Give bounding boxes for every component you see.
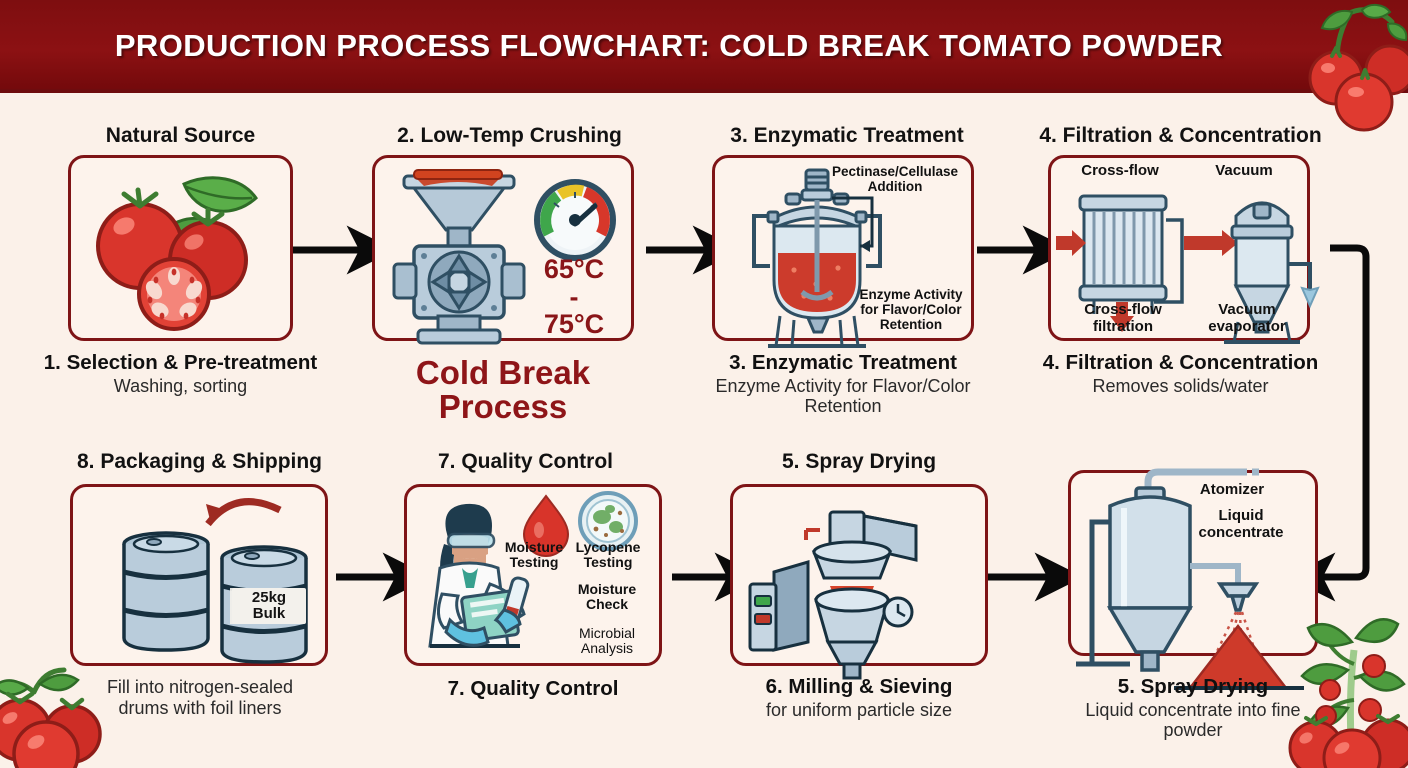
step-6-caption-sub: for uniform particle size: [718, 700, 1000, 720]
temp-dash: -: [570, 282, 579, 312]
step-1-card[interactable]: [68, 155, 293, 341]
step-6-card[interactable]: [730, 484, 988, 666]
liquid-concentrate-label: Liquid concentrate: [1192, 508, 1290, 541]
step-6-caption: 6. Milling & Sieving for uniform particl…: [718, 676, 1000, 720]
step-3-caption-sub: Enzyme Activity for Flavor/Color Retenti…: [700, 376, 986, 416]
arrow-4-to-5-wrap: [1320, 248, 1366, 577]
enzyme-activity-label: Enzyme Activity for Flavor/Color Retenti…: [855, 288, 967, 333]
drum-weight-label: 25kgBulk: [232, 588, 306, 624]
lycopene-testing-label: Lycopene Testing: [572, 540, 644, 571]
step-5-caption-heading: 5. Spray Drying: [1060, 676, 1326, 699]
step-8-caption-heading: Fill into nitrogen-sealed: [60, 677, 340, 697]
crossflow-filtration-label: Cross-flow filtration: [1068, 302, 1178, 335]
step-4-caption: 4. Filtration & Concentration Removes so…: [1028, 352, 1333, 396]
moisture-testing-label: Moisture Testing: [500, 540, 568, 571]
step-8-card[interactable]: [70, 484, 328, 666]
step-7-caption-heading: 7. Quality Control: [404, 678, 662, 701]
step-6-caption-heading: 6. Milling & Sieving: [718, 676, 1000, 699]
temp-high: 65°C: [544, 254, 604, 284]
vacuum-top-label: Vacuum: [1192, 163, 1296, 180]
step-3-caption: 3. Enzymatic Treatment Enzyme Activity f…: [700, 352, 986, 416]
crossflow-top-label: Cross-flow: [1068, 163, 1172, 180]
flowchart-canvas: PRODUCTION PROCESS FLOWCHART: COLD BREAK…: [0, 0, 1408, 768]
step-3-top-title: 3. Enzymatic Treatment: [712, 124, 982, 148]
step-2-top-title: 2. Low-Temp Crushing: [372, 124, 647, 148]
step-5-caption: 5. Spray Drying Liquid concentrate into …: [1060, 676, 1326, 740]
step-8-caption: Fill into nitrogen-sealed drums with foi…: [60, 676, 340, 718]
step-1-top-title: Natural Source: [68, 124, 293, 148]
atomizer-label: Atomizer: [1182, 482, 1282, 499]
step-4-caption-heading: 4. Filtration & Concentration: [1028, 352, 1333, 375]
step-1-caption-sub: Washing, sorting: [38, 376, 323, 396]
step-2-caption: Cold Break Process: [372, 356, 634, 425]
step-1-caption-heading: 1. Selection & Pre-treatment: [38, 352, 323, 375]
step-8-caption-sub: drums with foil liners: [60, 698, 340, 718]
pectinase-addition-label: Pectinase/Cellulase Addition: [820, 165, 970, 195]
step-2-caption-sub: Process: [439, 388, 567, 425]
step-2-temperature-range: 65°C - 75°C: [508, 256, 640, 339]
header-banner: PRODUCTION PROCESS FLOWCHART: COLD BREAK…: [0, 0, 1408, 92]
step-1-caption: 1. Selection & Pre-treatment Washing, so…: [38, 352, 323, 396]
microbial-analysis-label: Microbial Analysis: [566, 626, 648, 657]
step-4-top-title: 4. Filtration & Concentration: [1028, 124, 1333, 148]
step-7-top-title: 7. Quality Control: [404, 450, 647, 474]
moisture-check-label: Moisture Check: [566, 582, 648, 613]
step-2-caption-heading: Cold Break: [416, 354, 590, 391]
step-4-caption-sub: Removes solids/water: [1028, 376, 1333, 396]
step-5-caption-sub: Liquid concentrate into fine powder: [1060, 700, 1326, 740]
step-8-top-title: 8. Packaging & Shipping: [62, 450, 337, 474]
temp-low: 75°C: [544, 309, 604, 339]
step-7-caption: 7. Quality Control: [404, 678, 662, 701]
step-6-top-title: 5. Spray Drying: [730, 450, 988, 474]
page-title: PRODUCTION PROCESS FLOWCHART: COLD BREAK…: [0, 0, 1408, 92]
header-underline: [0, 89, 1408, 93]
step-3-caption-heading: 3. Enzymatic Treatment: [700, 352, 986, 375]
vacuum-evaporator-label: Vacuum evaporator: [1192, 302, 1302, 335]
